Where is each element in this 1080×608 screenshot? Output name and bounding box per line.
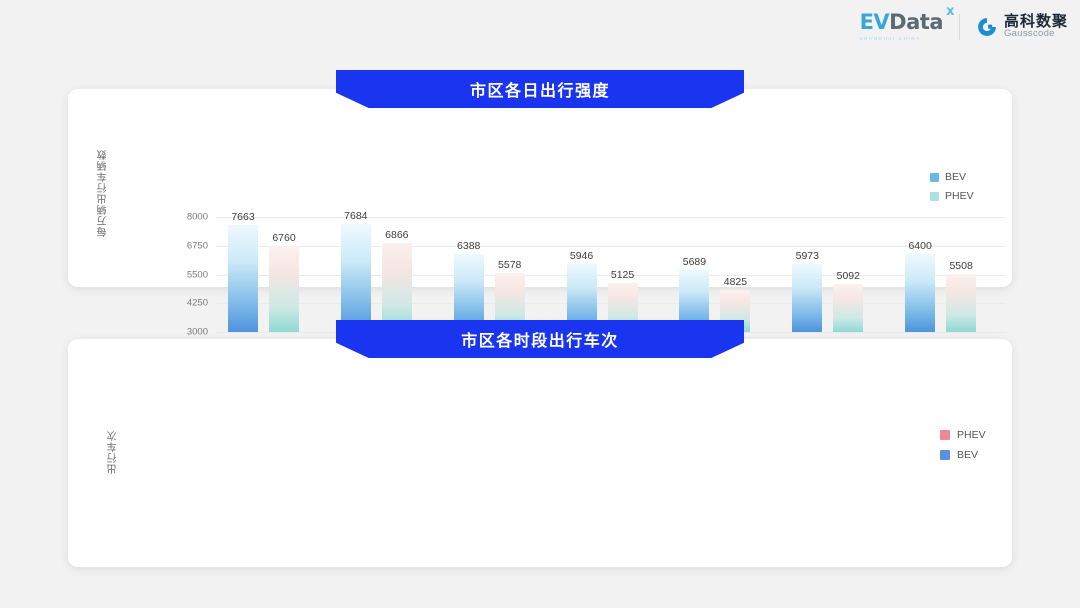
chart1-value-label: 7663 (231, 211, 254, 225)
chart1-y-tick-label: 6750 (187, 240, 208, 251)
chart1-legend-swatch-phev (930, 192, 939, 201)
evdata-subtitle: SHANGHAI CHINA (860, 36, 921, 41)
chart1-value-label: 4825 (724, 276, 747, 290)
chart1-y-tick-label: 5500 (187, 269, 208, 280)
header-logos: EVDatax SHANGHAI CHINA 高科数聚 Gausscode (860, 12, 1068, 41)
chart2-legend-swatch-bev (940, 450, 950, 460)
evdata-superscript-x: x (946, 5, 954, 18)
chart1-legend-label: PHEV (945, 190, 974, 202)
chart1-value-label: 5689 (683, 256, 706, 270)
chart1-value-label: 7684 (344, 210, 367, 224)
chart1-value-label: 6388 (457, 240, 480, 254)
chart1-value-label: 5508 (949, 260, 972, 274)
chart1-bar-group (893, 217, 1006, 332)
chart1-value-label: 6866 (385, 229, 408, 243)
chart1-bar-phev[interactable] (382, 243, 412, 332)
section-title: 市区各时段出行车次 (461, 327, 619, 351)
chart1-value-label: 5092 (837, 270, 860, 284)
chart1-legend: BEVPHEV (930, 171, 974, 202)
chart1-bar-bev[interactable] (228, 225, 258, 332)
chart2-legend: PHEVBEV (940, 429, 986, 461)
chart1-value-label: 5125 (611, 269, 634, 283)
logo-divider (959, 14, 960, 40)
chart1-bar-bev[interactable] (341, 224, 371, 332)
gausscode-mark-icon (976, 16, 998, 38)
chart1-y-tick-label: 8000 (187, 212, 208, 223)
chart1-legend-item-bev[interactable]: BEV (930, 171, 974, 183)
chart1-y-tick-label: 3000 (187, 327, 208, 338)
section-title: 市区各日出行强度 (470, 77, 610, 101)
chart2-legend-label: BEV (957, 449, 978, 461)
evdata-data-text: Data (889, 10, 943, 34)
card-hourly-trips: 出行车次 04000080000120000160000200000工作日波峰节… (68, 339, 1012, 567)
gausscode-chinese-name: 高科数聚 (1004, 14, 1068, 30)
chart1-bar-bev[interactable] (792, 264, 822, 332)
chart1-y-axis-title: 每万辆出行车辆数 (96, 137, 111, 237)
chart1-value-label: 5973 (796, 250, 819, 264)
section-banner-daily-intensity: 市区各日出行强度 (336, 70, 744, 108)
chart2-legend-swatch-phev (940, 430, 950, 440)
chart1-value-label: 6400 (908, 240, 931, 254)
evdata-logo: EVDatax SHANGHAI CHINA (860, 12, 943, 41)
chart1-value-label: 5578 (498, 259, 521, 273)
chart1-y-tick-label: 4250 (187, 298, 208, 309)
card-daily-intensity: 每万辆出行车辆数 30004250550067508000766367604月2… (68, 89, 1012, 287)
gausscode-english-name: Gausscode (1004, 29, 1068, 39)
evdata-ev-text: EV (860, 10, 890, 34)
chart1-bar-phev[interactable] (833, 284, 863, 332)
chart1-legend-label: BEV (945, 171, 966, 183)
section-banner-hourly-trips: 市区各时段出行车次 (336, 320, 744, 358)
chart1-bar-group (667, 217, 780, 332)
evdata-wordmark: EVDatax (860, 12, 943, 33)
chart2-legend-label: PHEV (957, 429, 986, 441)
chart1-bar-phev[interactable] (269, 246, 299, 332)
gausscode-text: 高科数聚 Gausscode (1004, 14, 1068, 40)
chart2-legend-item-phev[interactable]: PHEV (940, 429, 986, 441)
dashboard-page: EVDatax SHANGHAI CHINA 高科数聚 Gausscode 市区… (0, 0, 1080, 608)
chart1-value-label: 5946 (570, 250, 593, 264)
chart1-bar-phev[interactable] (946, 274, 976, 332)
chart2-y-axis-title: 出行车次 (106, 394, 121, 474)
chart1-value-label: 6760 (272, 232, 295, 246)
chart1-bar-group (442, 217, 555, 332)
chart2-legend-item-bev[interactable]: BEV (940, 449, 986, 461)
gausscode-logo: 高科数聚 Gausscode (976, 14, 1068, 40)
chart1-plot-area: 30004250550067508000766367604月27日7684686… (216, 217, 1006, 332)
chart1-legend-swatch-bev (930, 173, 939, 182)
chart1-legend-item-phev[interactable]: PHEV (930, 190, 974, 202)
chart1-bar-bev[interactable] (905, 254, 935, 332)
